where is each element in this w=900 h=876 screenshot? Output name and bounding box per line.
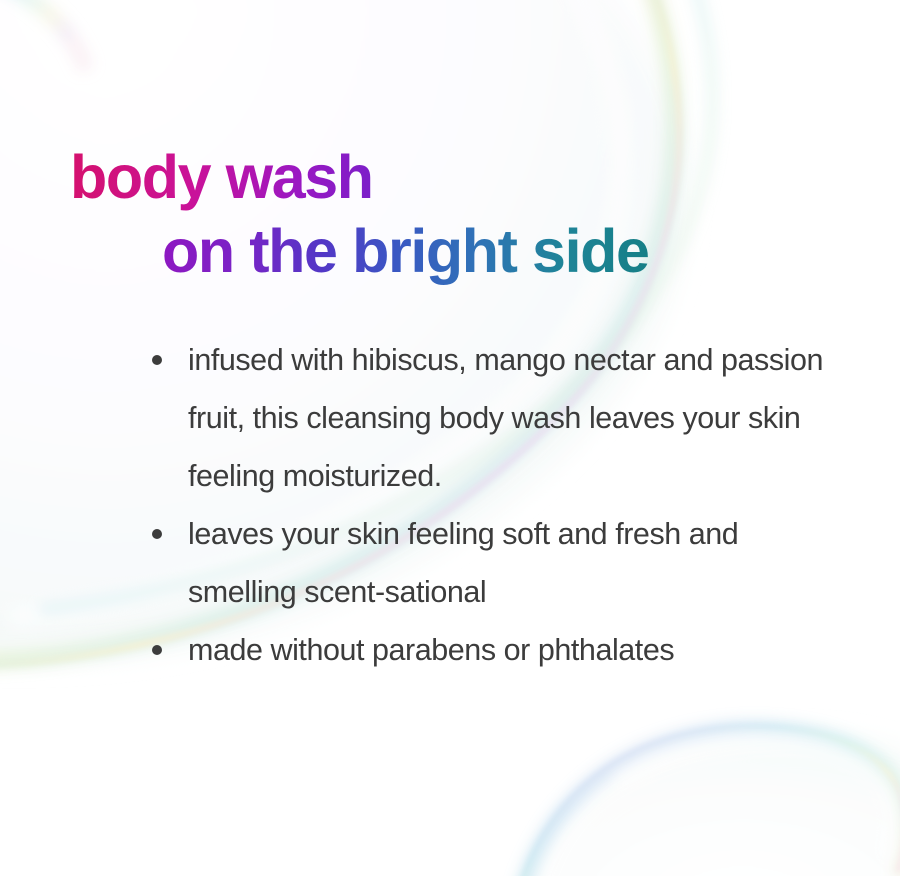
product-callout-graphic: body wash on the bright side infused wit… bbox=[0, 0, 900, 876]
feature-bullet-list: infused with hibiscus, mango nectar and … bbox=[148, 331, 848, 679]
list-item: made without parabens or phthalates bbox=[148, 621, 848, 679]
bullet-dot-icon bbox=[152, 355, 162, 365]
list-item-label: infused with hibiscus, mango nectar and … bbox=[188, 331, 848, 505]
headline-line-1: body wash bbox=[70, 140, 373, 214]
bullet-dot-icon bbox=[152, 529, 162, 539]
list-item-label: leaves your skin feeling soft and fresh … bbox=[188, 505, 848, 621]
page-title: body wash on the bright side bbox=[70, 140, 830, 288]
list-item: leaves your skin feeling soft and fresh … bbox=[148, 505, 848, 621]
list-item: infused with hibiscus, mango nectar and … bbox=[148, 331, 848, 505]
headline-line-2: on the bright side bbox=[162, 214, 649, 288]
content-layer: body wash on the bright side infused wit… bbox=[0, 0, 900, 876]
list-item-label: made without parabens or phthalates bbox=[188, 621, 848, 679]
bullet-dot-icon bbox=[152, 645, 162, 655]
